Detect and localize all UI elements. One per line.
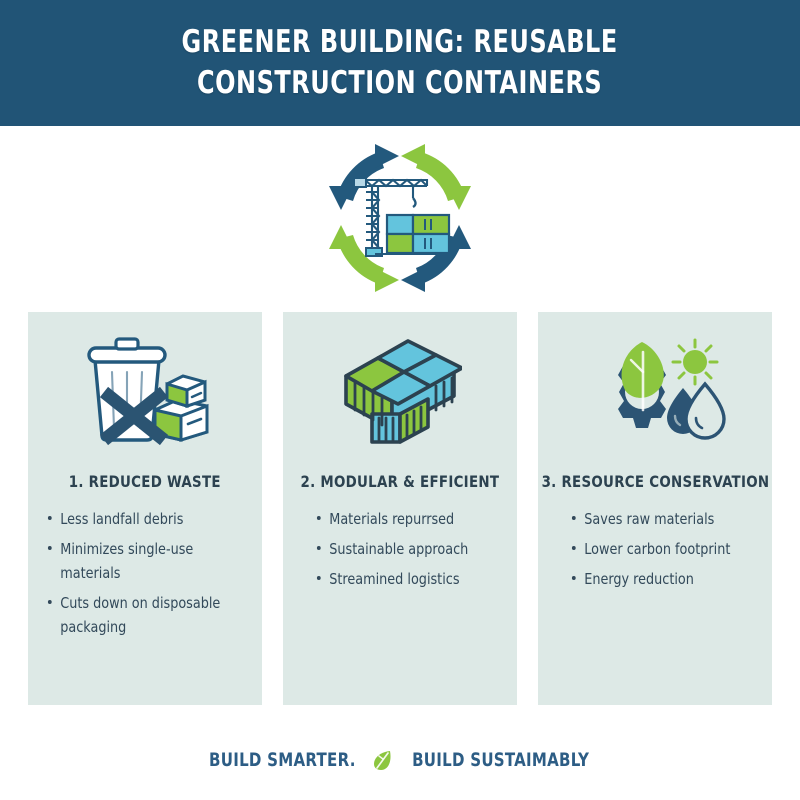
footer-text-left: BUILD SMARTER.	[209, 749, 356, 771]
card-resource-conservation[interactable]: 3. RESOURCE CONSERVATION Saves raw mater…	[538, 312, 772, 705]
page-title-line-2: CONSTRUCTION CONTAINERS	[197, 63, 602, 104]
page-title-line-1: GREENER BUILDING: REUSABLE	[182, 22, 618, 63]
footer-tagline: BUILD SMARTER. BUILD SUSTAIMABLY	[0, 742, 800, 778]
recycling-construction-icon	[315, 138, 485, 298]
no-waste-bin-icon	[71, 334, 219, 446]
footer-text-right: BUILD SUSTAIMABLY	[412, 749, 589, 771]
card-1-title: 1. REDUCED WASTE	[69, 472, 221, 491]
list-item: Minimizes single-use materials	[46, 537, 238, 585]
card-2-title: 2. MODULAR & EFFICIENT	[301, 472, 500, 491]
stacked-containers-icon	[338, 334, 462, 446]
benefit-cards-row: 1. REDUCED WASTE Less landfall debris Mi…	[28, 312, 772, 705]
hero-section	[0, 126, 800, 310]
list-item: Sustainable approach	[315, 537, 494, 561]
card-3-bullets: Saves raw materials Lower carbon footpri…	[538, 507, 772, 597]
header-banner: GREENER BUILDING: REUSABLE CONSTRUCTION …	[0, 0, 800, 126]
card-2-bullets: Materials repurrsed Sustainable approach…	[283, 507, 517, 597]
list-item: Less landfall debris	[46, 507, 238, 531]
list-item: Lower carbon footprint	[570, 537, 749, 561]
card-1-bullets: Less landfall debris Minimizes single-us…	[28, 507, 262, 645]
card-reduced-waste[interactable]: 1. REDUCED WASTE Less landfall debris Mi…	[28, 312, 262, 705]
list-item: Cuts down on disposable packaging	[46, 591, 238, 639]
card-3-icon-wrap	[538, 312, 772, 462]
list-item: Energy reduction	[570, 567, 749, 591]
card-3-title: 3. RESOURCE CONSERVATION	[541, 472, 769, 491]
gear-leaf-sun-water-icon	[579, 334, 731, 446]
card-modular-efficient[interactable]: 2. MODULAR & EFFICIENT Materials repurrs…	[283, 312, 517, 705]
list-item: Materials repurrsed	[315, 507, 494, 531]
card-1-icon-wrap	[28, 312, 262, 462]
list-item: Streamined logistics	[315, 567, 494, 591]
list-item: Saves raw materials	[570, 507, 749, 531]
leaf-icon	[373, 749, 393, 771]
card-2-icon-wrap	[283, 312, 517, 462]
